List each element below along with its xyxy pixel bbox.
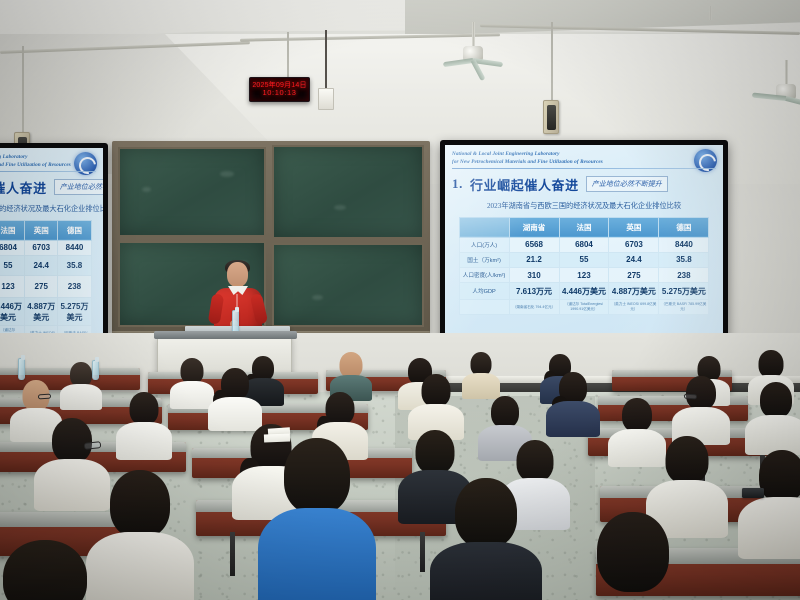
row-label-population: 人口(万人)	[459, 237, 509, 252]
smartphone[interactable]	[742, 488, 764, 498]
col-germany: 德国	[659, 217, 709, 237]
left-slide-title-badge: 产业地位必然不断提升	[54, 179, 103, 195]
student	[672, 376, 730, 442]
table-row: 人口(万人) 6568 6804 6703 8440	[0, 240, 91, 255]
table-row: 人口(万人) 6568 6804 6703 8440	[459, 237, 709, 252]
footnote-france: （道达尔 TotalEnergies/ 1990.91亿美元）	[559, 300, 609, 315]
left-display[interactable]: National & Local Joint Engineering Labor…	[0, 143, 108, 339]
slide-subtitle: 2023年湖南省与西欧三国的经济状况及最大石化企业排位比较	[452, 201, 716, 211]
notebook	[264, 434, 290, 443]
left-comparison-table: 湖南省 法国 英国 德国 人口(万人) 6568 6804 6703 8440 …	[0, 220, 92, 334]
glasses-icon	[84, 441, 102, 450]
wall-speaker	[543, 100, 559, 134]
student	[0, 540, 120, 600]
ceiling-fan	[444, 22, 502, 78]
student	[462, 352, 500, 394]
footnote-hunan: （湖南省石化 794.4亿元）	[509, 300, 559, 315]
student	[430, 478, 542, 600]
table-row: 国土（万km²) 21.2 55 24.4 35.8	[0, 255, 91, 275]
lab-header-line1: National & Local Joint Engineering Labor…	[452, 151, 716, 159]
student	[116, 392, 172, 456]
table-row: 人口密度(人/km²) 310 123 275 238	[459, 267, 709, 282]
student	[330, 352, 372, 396]
table-header-row: 湖南省 法国 英国 德国	[459, 217, 709, 237]
student	[258, 438, 376, 600]
speaker-wire	[551, 22, 553, 102]
table-corner	[459, 217, 509, 237]
footnote-uk: （英力士 INEOS/ 699.8亿美元）	[609, 300, 659, 315]
chalkboard	[112, 141, 430, 333]
slide-title-badge: 产业地位必然不断提升	[586, 176, 668, 192]
water-bottle	[18, 358, 25, 380]
student	[546, 372, 600, 434]
col-hunan: 湖南省	[509, 217, 559, 237]
left-col-germany: 德国	[58, 220, 91, 240]
led-time: 10:10:13	[263, 89, 297, 97]
table-footnote-row: （湖南省石化 794.4亿元） （道达尔 TotalEnergies/ 1990…	[459, 300, 709, 315]
student	[408, 374, 464, 436]
left-col-france: 法国	[0, 220, 25, 240]
col-uk: 英国	[609, 217, 659, 237]
right-display[interactable]: National & Local Joint Engineering Labor…	[440, 140, 728, 340]
left-slide-subtitle: 2023年湖南省与西欧三国的经济状况及最大石化企业排位比较	[0, 204, 96, 214]
ceiling-fan	[756, 60, 800, 116]
lab-header-line2: for New Petrochemical Materials and Fine…	[452, 159, 716, 167]
junction-wire	[325, 30, 327, 88]
led-clock-display: 2025年09月14日 10:10:13	[249, 77, 310, 102]
water-bottle	[92, 360, 99, 380]
glasses-icon	[684, 394, 697, 400]
chalkboard-panel	[118, 147, 266, 237]
student	[208, 368, 262, 428]
left-col-uk: 英国	[25, 220, 58, 240]
row-label-area: 国土（万km²)	[459, 252, 509, 267]
ceiling-fan	[690, 6, 730, 46]
student	[745, 382, 800, 452]
table-row: 人口密度(人/km²) 310 123 275 238	[0, 275, 91, 297]
slide-section-number: 1.	[452, 176, 463, 192]
row-label-density: 人口密度(人/km²)	[459, 267, 509, 282]
glasses-icon	[38, 394, 51, 400]
chalkboard-panel	[272, 145, 424, 239]
comparison-table: 湖南省 法国 英国 德国 人口(万人) 6568 6804 6703 8440 …	[459, 217, 710, 315]
footnote-germany: （巴斯夫 BASF/ 785.99亿美元）	[659, 300, 709, 315]
left-slide-title: 行业崛起催人奋进	[0, 178, 47, 197]
chalkboard-panel	[272, 243, 424, 327]
table-row: 人均GDP 7.613万元 4.446万美元 4.887万美元 5.275万美元	[459, 283, 709, 300]
led-wire	[287, 32, 289, 78]
slide-content: National & Local Joint Engineering Labor…	[445, 145, 723, 335]
classroom-photo: 2025年09月14日 10:10:13	[0, 0, 800, 600]
student	[568, 512, 698, 600]
student	[738, 450, 800, 556]
table-row: 人均GDP 7.613万元 4.446万美元 4.887万美元 5.275万美元	[0, 298, 91, 326]
col-france: 法国	[559, 217, 609, 237]
row-label-gdp: 人均GDP	[459, 283, 509, 300]
left-slide-content: National & Local Joint Engineering Labor…	[0, 148, 103, 334]
speaker-wire	[22, 46, 24, 134]
junction-box	[318, 88, 334, 110]
table-row: 国土（万km²) 21.2 55 24.4 35.8	[459, 252, 709, 267]
slide-title: 行业崛起催人奋进	[470, 175, 579, 194]
